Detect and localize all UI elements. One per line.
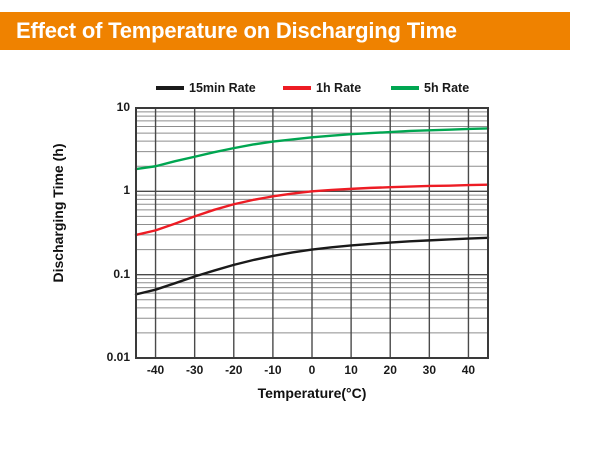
y-tick-0p1: 0.1 bbox=[90, 267, 130, 281]
x-axis-title: Temperature(°C) bbox=[136, 385, 488, 401]
x-tick--10: -10 bbox=[253, 363, 293, 377]
y-tick-1: 1 bbox=[90, 183, 130, 197]
chart-figure: 15min Rate 1h Rate 5h Rate Discharging T… bbox=[0, 55, 600, 451]
grid-vertical-lines bbox=[156, 108, 469, 358]
x-tick-20: 20 bbox=[370, 363, 410, 377]
x-tick-40: 40 bbox=[448, 363, 488, 377]
y-axis-title: Discharging Time (h) bbox=[50, 113, 66, 313]
y-tick-10: 10 bbox=[90, 100, 130, 114]
x-tick-0: 0 bbox=[292, 363, 332, 377]
page-title: Effect of Temperature on Discharging Tim… bbox=[16, 18, 457, 44]
title-banner: Effect of Temperature on Discharging Tim… bbox=[0, 12, 570, 50]
x-tick--40: -40 bbox=[136, 363, 176, 377]
x-tick--20: -20 bbox=[214, 363, 254, 377]
x-tick-30: 30 bbox=[409, 363, 449, 377]
y-tick-0p01: 0.01 bbox=[90, 350, 130, 364]
x-tick--30: -30 bbox=[175, 363, 215, 377]
x-tick-10: 10 bbox=[331, 363, 371, 377]
